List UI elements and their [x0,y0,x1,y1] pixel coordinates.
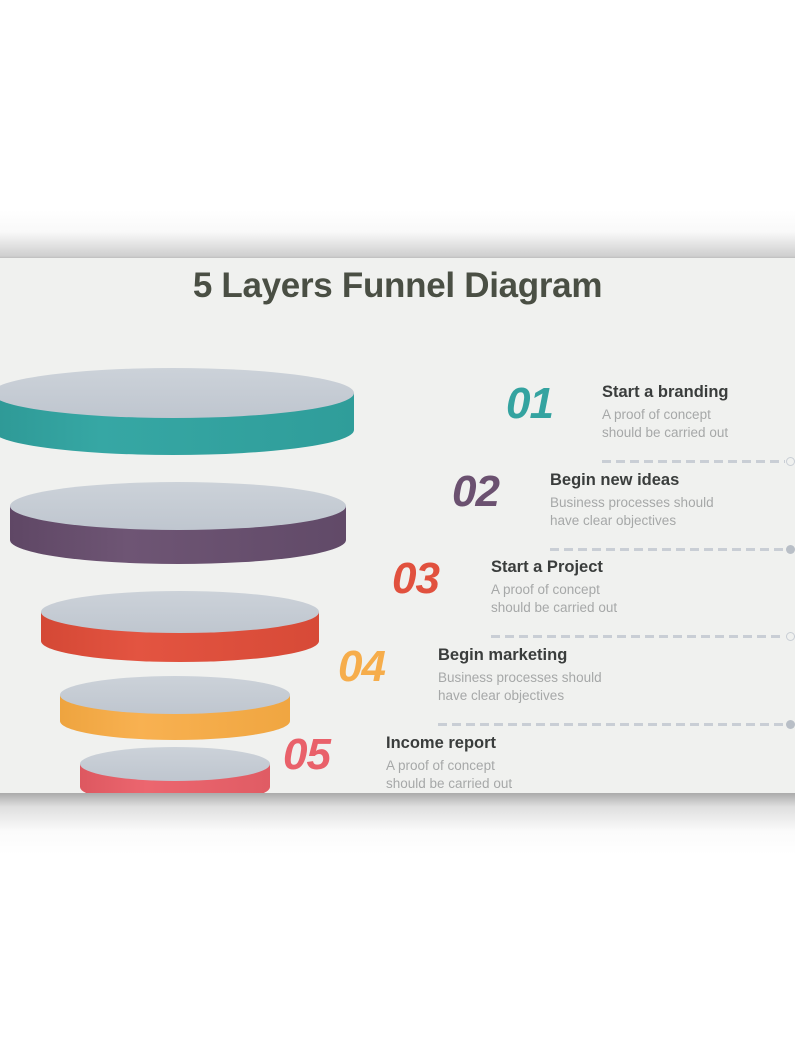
step-connector-03 [491,632,795,641]
step-desc-02-line2: have clear objectives [550,512,714,531]
step-title-04: Begin marketing [438,645,602,666]
funnel-layer-2-purple[interactable] [8,482,348,582]
step-connector-04 [438,720,795,729]
step-title-01: Start a branding [602,382,729,403]
page-canvas: 5 Layers Funnel Diagram [0,0,795,1060]
step-desc-03-line2: should be carried out [491,599,617,618]
step-title-02: Begin new ideas [550,470,714,491]
step-number-03: 03 [392,557,439,601]
slide: 5 Layers Funnel Diagram [0,258,795,793]
step-endpoint-marker-02 [786,545,795,554]
funnel-layer-5-coral[interactable] [78,747,272,793]
step-number-05: 05 [283,733,330,777]
step-endpoint-marker-03 [786,632,795,641]
step-desc-04-line1: Business processes should [438,669,602,688]
step-desc-05-line2: should be carried out [386,775,512,793]
step-number-02: 02 [452,470,499,514]
step-number-01: 01 [506,382,553,426]
funnel-layer-4-orange[interactable] [58,676,292,756]
step-desc-01-line1: A proof of concept [602,406,729,425]
step-desc-03-line1: A proof of concept [491,581,617,600]
slide-top-shadow [0,210,795,259]
step-endpoint-marker-01 [786,457,795,466]
step-desc-02-line1: Business processes should [550,494,714,513]
step-desc-01-line2: should be carried out [602,424,729,443]
step-connector-02 [550,545,795,554]
step-title-03: Start a Project [491,557,617,578]
step-number-04: 04 [338,645,385,689]
slide-bottom-shadow [0,793,795,855]
step-title-05: Income report [386,733,512,754]
step-connector-01 [602,457,795,466]
step-desc-05-line1: A proof of concept [386,757,512,776]
funnel-layer-1-teal[interactable] [0,368,356,473]
step-desc-04-line2: have clear objectives [438,687,602,706]
funnel-diagram [0,258,400,793]
step-endpoint-marker-04 [786,720,795,729]
funnel-layer-3-red[interactable] [39,591,321,681]
